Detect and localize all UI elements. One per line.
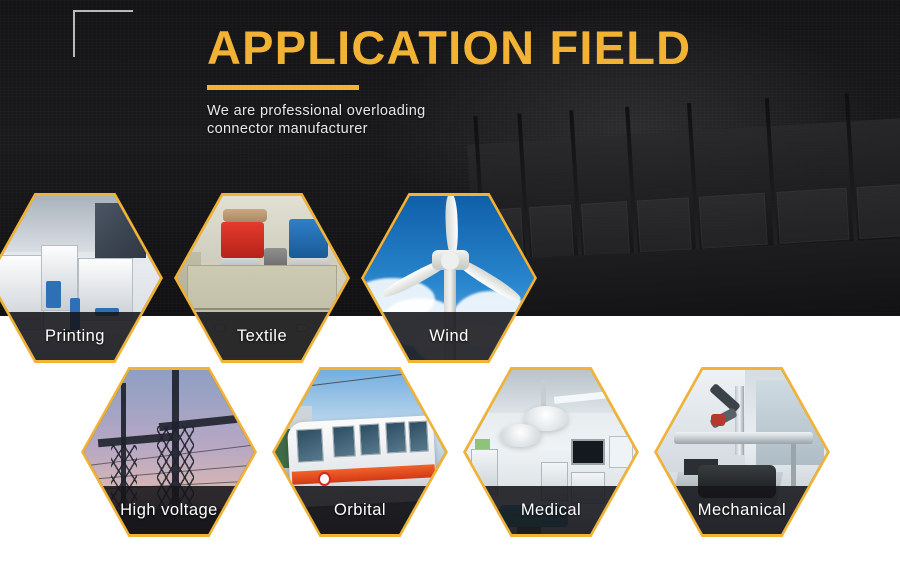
hex-label-text: High voltage: [120, 501, 218, 520]
hex-label-band: Orbital: [275, 486, 445, 534]
page-title: APPLICATION FIELD: [207, 22, 727, 74]
application-field-banner: APPLICATION FIELD We are professional ov…: [0, 0, 900, 561]
hex-tile-printing[interactable]: Printing: [0, 193, 163, 363]
heading-block: APPLICATION FIELD We are professional ov…: [207, 22, 727, 138]
hex-label-text: Textile: [237, 327, 287, 346]
hex-content: Wind: [364, 196, 534, 360]
hex-tile-mechanical[interactable]: Mechanical: [654, 367, 830, 537]
hex-content: Medical: [466, 370, 636, 534]
hex-label-text: Orbital: [334, 501, 386, 520]
hex-tile-medical[interactable]: Medical: [463, 367, 639, 537]
page-subtitle: We are professional overloading connecto…: [207, 102, 727, 138]
hex-label-band: Wind: [364, 312, 534, 360]
hex-tile-textile[interactable]: Textile: [174, 193, 350, 363]
hex-content: Mechanical: [657, 370, 827, 534]
hex-label-band: High voltage: [84, 486, 254, 534]
title-underline-rule: [207, 85, 359, 90]
hex-label-text: Mechanical: [698, 501, 786, 520]
hex-label-band: Medical: [466, 486, 636, 534]
hex-tile-orbital[interactable]: Orbital: [272, 367, 448, 537]
hex-content: Textile: [177, 196, 347, 360]
hex-tile-high-voltage[interactable]: High voltage: [81, 367, 257, 537]
hex-label-band: Textile: [177, 312, 347, 360]
hex-label-band: Printing: [0, 312, 160, 360]
hex-label-text: Medical: [521, 501, 581, 520]
hex-tile-wind[interactable]: Wind: [361, 193, 537, 363]
hex-content: High voltage: [84, 370, 254, 534]
hex-label-text: Printing: [45, 327, 105, 346]
hex-content: Orbital: [275, 370, 445, 534]
hex-label-band: Mechanical: [657, 486, 827, 534]
hex-label-text: Wind: [429, 327, 469, 346]
hex-content: Printing: [0, 196, 160, 360]
corner-bracket-decor: [73, 10, 133, 57]
